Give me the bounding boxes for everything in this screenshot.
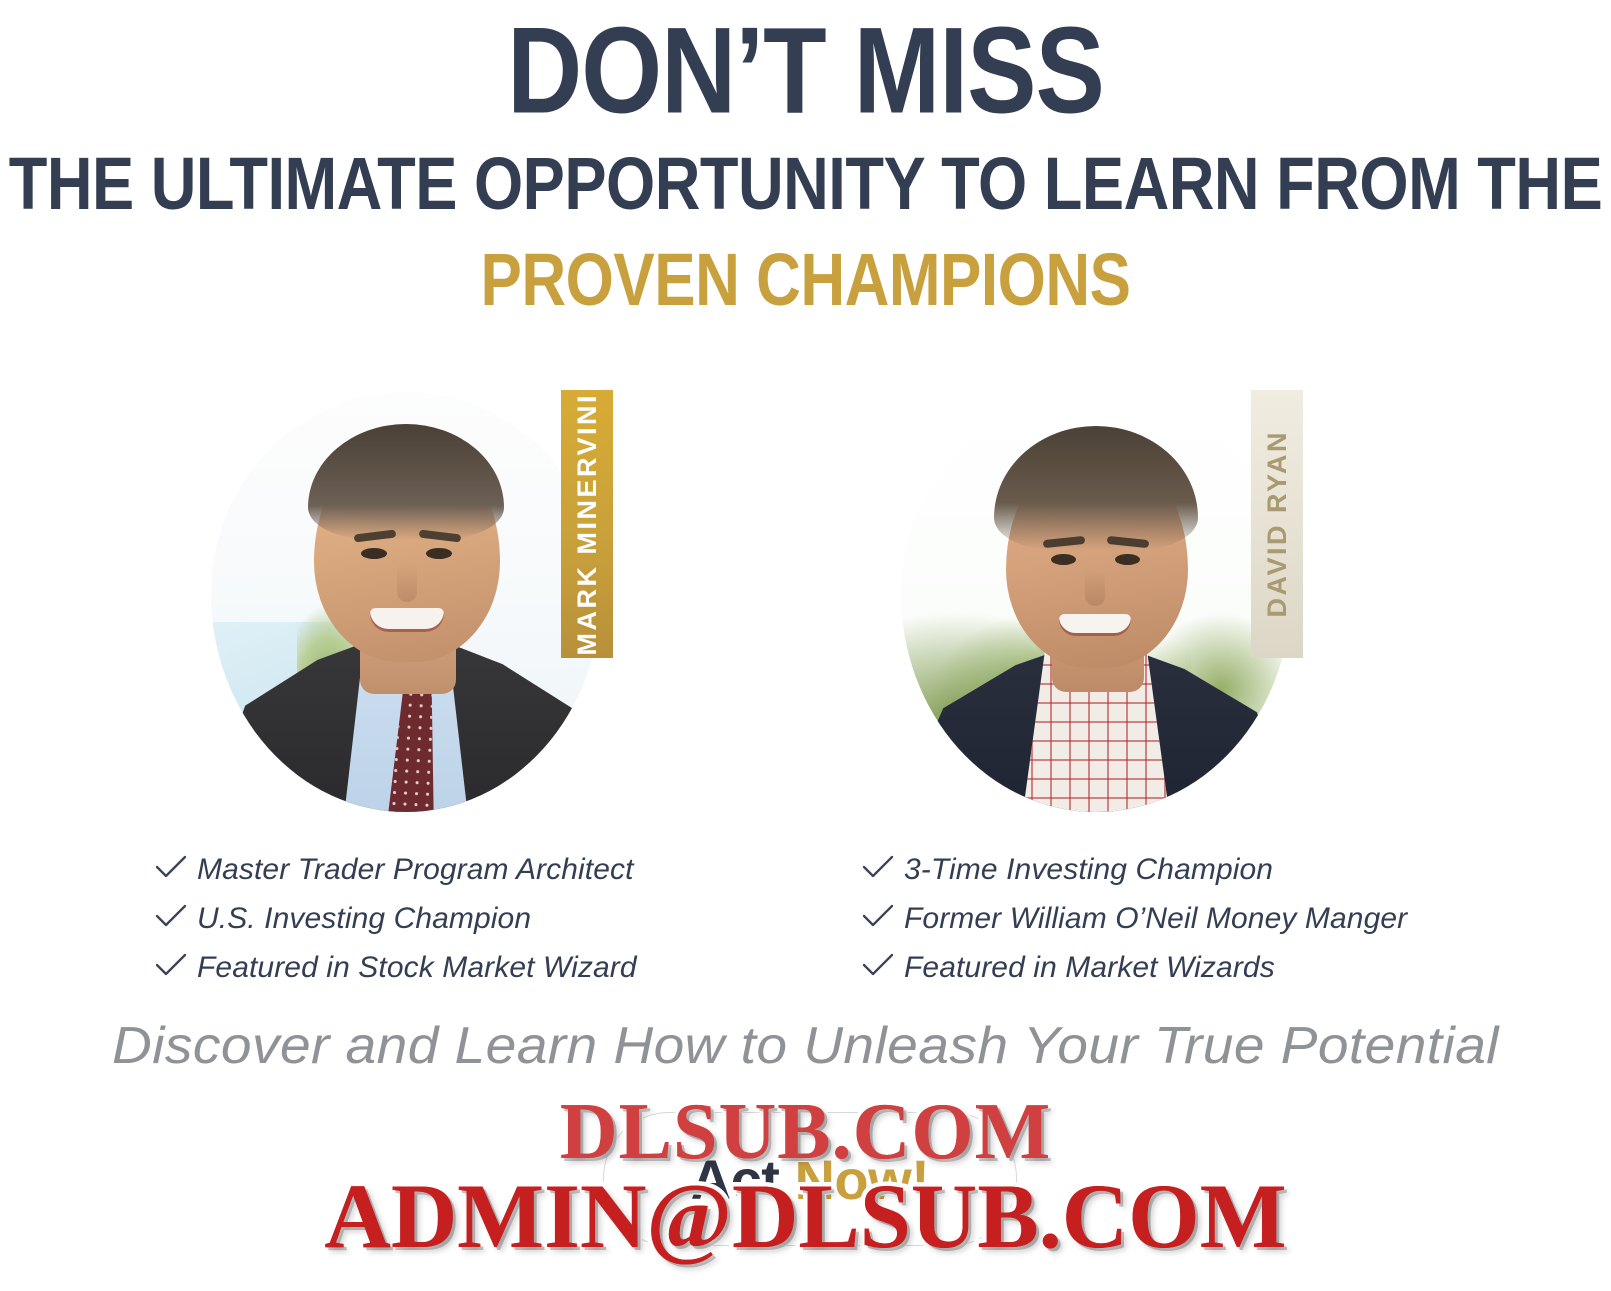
speaker-portrait-david-ryan	[901, 392, 1291, 812]
list-item: Master Trader Program Architect	[155, 845, 637, 894]
check-icon	[862, 854, 904, 885]
list-item: U.S. Investing Champion	[155, 894, 637, 943]
speaker-portrait-mark-minervini	[211, 392, 601, 812]
headline-block: DON’T MISS THE ULTIMATE OPPORTUNITY TO L…	[0, 0, 1611, 306]
speaker-name-banner-david-ryan: DAVID RYAN	[1251, 390, 1303, 658]
list-item: Former William O’Neil Money Manger	[862, 894, 1407, 943]
credential-text: Former William O’Neil Money Manger	[904, 902, 1407, 936]
speaker-card-david-ryan: DAVID RYAN	[885, 372, 1315, 832]
check-icon	[155, 952, 197, 983]
list-item: Featured in Market Wizards	[862, 943, 1407, 992]
speaker-name-banner-mark-minervini: MARK MINERVINI	[561, 390, 613, 658]
credential-text: U.S. Investing Champion	[197, 902, 531, 936]
speaker-card-mark-minervini: MARK MINERVINI	[195, 372, 625, 832]
speaker-name-label: DAVID RYAN	[1262, 430, 1293, 618]
headline-line-2: THE ULTIMATE OPPORTUNITY TO LEARN FROM T…	[0, 148, 1611, 222]
speaker-name-label: MARK MINERVINI	[572, 393, 603, 656]
headline-line-1: DON’T MISS	[0, 10, 1611, 133]
watermark-email: ADMIN@DLSUB.COM	[0, 1163, 1611, 1269]
credential-text: 3-Time Investing Champion	[904, 853, 1273, 887]
headline-line-3: PROVEN CHAMPIONS	[0, 244, 1611, 318]
credentials-list-mark-minervini: Master Trader Program Architect U.S. Inv…	[155, 845, 637, 992]
check-icon	[155, 903, 197, 934]
tagline: Discover and Learn How to Unleash Your T…	[0, 1016, 1611, 1076]
credential-text: Featured in Stock Market Wizard	[197, 951, 637, 985]
credential-text: Featured in Market Wizards	[904, 951, 1275, 985]
list-item: Featured in Stock Market Wizard	[155, 943, 637, 992]
list-item: 3-Time Investing Champion	[862, 845, 1407, 894]
portrait-photo	[211, 392, 601, 812]
speakers-row: MARK MINERVINI DAVID RYA	[0, 372, 1611, 832]
credentials-list-david-ryan: 3-Time Investing Champion Former William…	[862, 845, 1407, 992]
check-icon	[155, 854, 197, 885]
check-icon	[862, 952, 904, 983]
check-icon	[862, 903, 904, 934]
credential-text: Master Trader Program Architect	[197, 853, 634, 887]
portrait-photo	[901, 392, 1291, 812]
